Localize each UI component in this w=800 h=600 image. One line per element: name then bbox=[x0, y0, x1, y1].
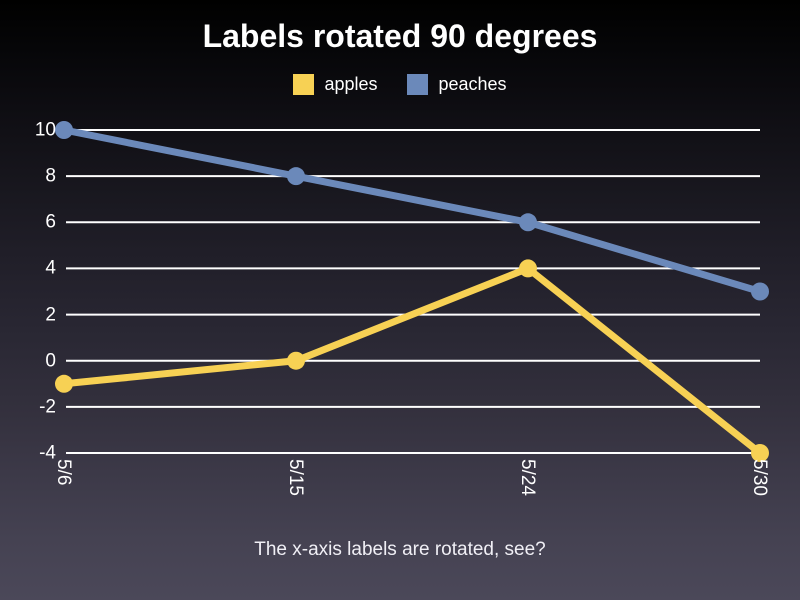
y-axis-tick-label: 6 bbox=[8, 213, 56, 232]
y-axis-tick-label: 0 bbox=[8, 351, 56, 370]
x-axis-tick-label: 5/30 bbox=[750, 459, 769, 496]
series-line-peaches bbox=[64, 130, 760, 292]
data-point-peaches-5/6[interactable] bbox=[55, 121, 73, 139]
x-axis-tick-label: 5/24 bbox=[518, 459, 537, 496]
chart-caption: The x-axis labels are rotated, see? bbox=[0, 538, 800, 562]
data-point-apples-5/15[interactable] bbox=[287, 352, 305, 370]
data-point-peaches-5/24[interactable] bbox=[519, 213, 537, 231]
y-axis-tick-label: 10 bbox=[8, 121, 56, 140]
data-series-layer bbox=[55, 121, 769, 462]
data-point-peaches-5/30[interactable] bbox=[751, 283, 769, 301]
y-axis-tick-label: 4 bbox=[8, 259, 56, 278]
gridlines bbox=[66, 130, 760, 453]
x-axis-tick-label: 5/15 bbox=[286, 459, 305, 496]
y-axis-tick-label: 8 bbox=[8, 167, 56, 186]
plot-area bbox=[0, 0, 800, 600]
chart-canvas: Labels rotated 90 degrees apples peaches… bbox=[0, 0, 800, 600]
y-axis-tick-label: -4 bbox=[8, 444, 56, 463]
y-axis-tick-label: -2 bbox=[8, 397, 56, 416]
data-point-peaches-5/15[interactable] bbox=[287, 167, 305, 185]
y-axis-tick-label: 2 bbox=[8, 305, 56, 324]
x-axis-tick-label: 5/6 bbox=[54, 459, 73, 485]
data-point-apples-5/24[interactable] bbox=[519, 259, 537, 277]
data-point-apples-5/6[interactable] bbox=[55, 375, 73, 393]
